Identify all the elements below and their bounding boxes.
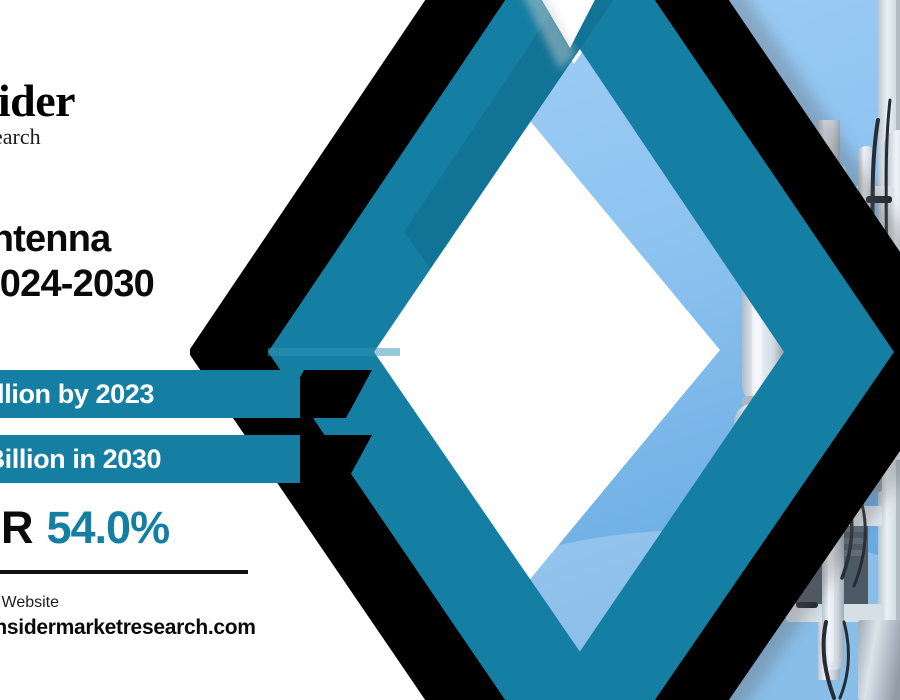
logo-wordmark: Insider: [0, 78, 158, 124]
logo-research-text: esearch: [0, 124, 41, 149]
website-footer[interactable]: Visit Our Website www.insidermarketresea…: [0, 592, 256, 642]
chevron-seam-highlight: [268, 348, 400, 356]
infographic-canvas: Insider MResearch Global Smart Antenna M…: [0, 0, 900, 700]
logo-tagline: MResearch: [0, 126, 158, 148]
divider-rule: [0, 570, 248, 574]
banner-text-2030: USD 55.78 Billion in 2030: [0, 435, 300, 483]
website-prompt: Visit Our Website: [0, 592, 256, 614]
cagr-label: CAGR: [0, 502, 33, 553]
title-line-2: Smart Antenna: [0, 217, 412, 262]
cagr-value: 54.0%: [47, 502, 170, 553]
title-line-1: Global: [0, 172, 412, 217]
website-url[interactable]: www.insidermarketresearch.com: [0, 614, 256, 642]
brand-logo[interactable]: Insider MResearch: [0, 78, 158, 158]
market-value-banner-2030: USD 55.78 Billion in 2030: [0, 435, 372, 483]
title-line-3: Market 2024-2030: [0, 262, 412, 307]
banner-text-2023: USD 4.14 Billion by 2023: [0, 370, 300, 418]
report-title: Global Smart Antenna Market 2024-2030: [0, 172, 412, 306]
market-value-banner-2023: USD 4.14 Billion by 2023: [0, 370, 372, 418]
cagr-statement: CAGR54.0%: [0, 502, 169, 554]
